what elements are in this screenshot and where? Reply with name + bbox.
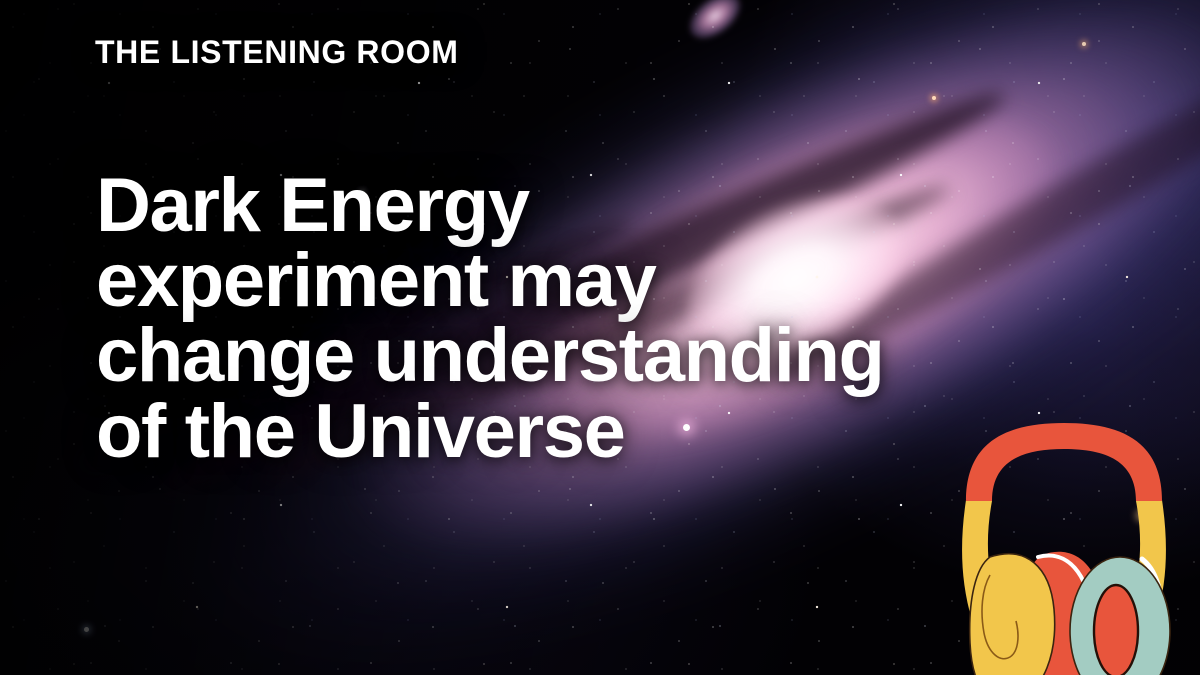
page-title: Dark Energy experiment may change unders… (96, 168, 884, 469)
headline-line: experiment may (96, 243, 884, 318)
headline-line: of the Universe (96, 394, 884, 469)
headline-line: Dark Energy (96, 168, 884, 243)
programme-kicker: THE LISTENING ROOM (95, 36, 459, 70)
headphones-earcup-center (1094, 585, 1138, 675)
promo-graphic: THE LISTENING ROOM Dark Energy experimen… (0, 0, 1200, 675)
headline-line: change understanding (96, 318, 884, 393)
headphones-headband (966, 423, 1162, 501)
headphones-illustration (930, 405, 1200, 675)
